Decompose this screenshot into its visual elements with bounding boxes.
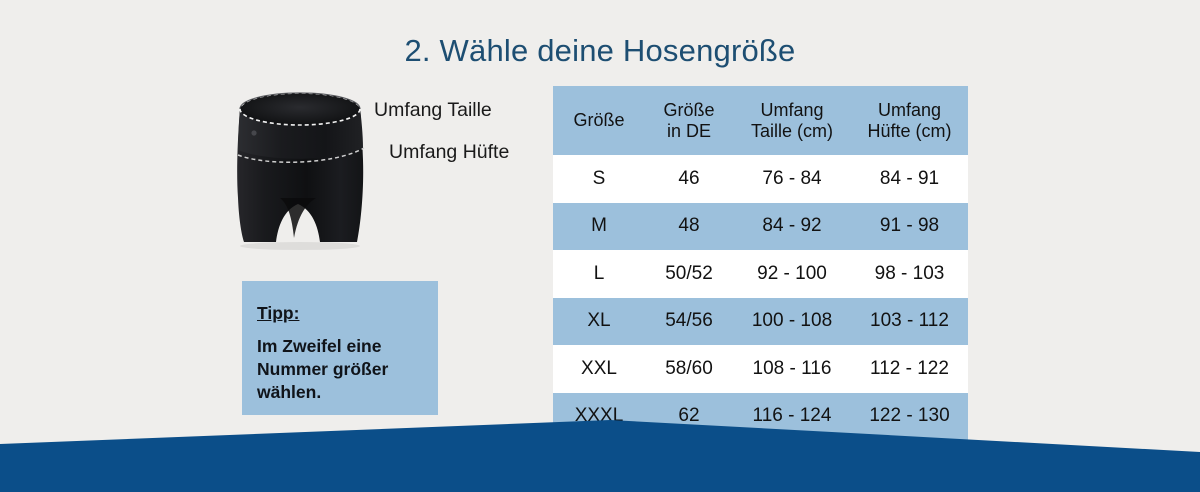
cell-size: XXL xyxy=(553,345,645,393)
shorts-product-image xyxy=(228,86,393,251)
cell-hip: 91 - 98 xyxy=(851,203,968,251)
size-table-body: S 46 76 - 84 84 - 91 M 48 84 - 92 91 - 9… xyxy=(553,155,968,440)
cell-waist: 76 - 84 xyxy=(733,155,851,203)
page-title: 2. Wähle deine Hosengröße xyxy=(0,31,1200,71)
cell-hip: 112 - 122 xyxy=(851,345,968,393)
column-header-de-line2: in DE xyxy=(645,121,733,142)
cell-size: L xyxy=(553,250,645,298)
tip-box: Tipp: Im Zweifel eine Nummer größer wähl… xyxy=(242,281,438,415)
label-umfang-taille: Umfang Taille xyxy=(374,98,492,122)
bottom-wave-shape xyxy=(0,420,1200,492)
cell-hip: 103 - 112 xyxy=(851,298,968,346)
table-row: XXL 58/60 108 - 116 112 - 122 xyxy=(553,345,968,393)
cell-size: M xyxy=(553,203,645,251)
cell-waist: 108 - 116 xyxy=(733,345,851,393)
table-row: M 48 84 - 92 91 - 98 xyxy=(553,203,968,251)
tip-body: Im Zweifel eine Nummer größer wählen. xyxy=(257,335,417,404)
table-row: L 50/52 92 - 100 98 - 103 xyxy=(553,250,968,298)
cell-de: 58/60 xyxy=(645,345,733,393)
cell-hip: 98 - 103 xyxy=(851,250,968,298)
column-header-waist-line2: Taille (cm) xyxy=(733,121,851,142)
column-header-waist-line1: Umfang xyxy=(733,100,851,121)
size-table: Größe Größe in DE Umfang Taille (cm) Umf… xyxy=(553,86,968,440)
column-header-hip: Umfang Hüfte (cm) xyxy=(851,86,968,155)
cell-de: 46 xyxy=(645,155,733,203)
size-table-head: Größe Größe in DE Umfang Taille (cm) Umf… xyxy=(553,86,968,155)
column-header-de-line1: Größe xyxy=(645,100,733,121)
table-row: S 46 76 - 84 84 - 91 xyxy=(553,155,968,203)
column-header-hip-line2: Hüfte (cm) xyxy=(851,121,968,142)
cell-size: XL xyxy=(553,298,645,346)
cell-waist: 92 - 100 xyxy=(733,250,851,298)
cell-de: 48 xyxy=(645,203,733,251)
table-row: XL 54/56 100 - 108 103 - 112 xyxy=(553,298,968,346)
size-guide-page: 2. Wähle deine Hosengröße xyxy=(0,0,1200,492)
cell-hip: 84 - 91 xyxy=(851,155,968,203)
cell-size: S xyxy=(553,155,645,203)
label-umfang-huefte: Umfang Hüfte xyxy=(389,140,509,164)
column-header-size: Größe xyxy=(553,86,645,155)
column-header-hip-line1: Umfang xyxy=(851,100,968,121)
brand-dot xyxy=(251,130,256,135)
cell-waist: 84 - 92 xyxy=(733,203,851,251)
tip-heading: Tipp: xyxy=(257,302,438,324)
column-header-waist: Umfang Taille (cm) xyxy=(733,86,851,155)
bottom-wave-decoration xyxy=(0,417,1200,492)
ground-shadow xyxy=(240,242,360,250)
column-header-size-line1: Größe xyxy=(553,110,645,131)
table-header-row: Größe Größe in DE Umfang Taille (cm) Umf… xyxy=(553,86,968,155)
cell-waist: 100 - 108 xyxy=(733,298,851,346)
cell-de: 50/52 xyxy=(645,250,733,298)
column-header-de: Größe in DE xyxy=(645,86,733,155)
cell-de: 54/56 xyxy=(645,298,733,346)
